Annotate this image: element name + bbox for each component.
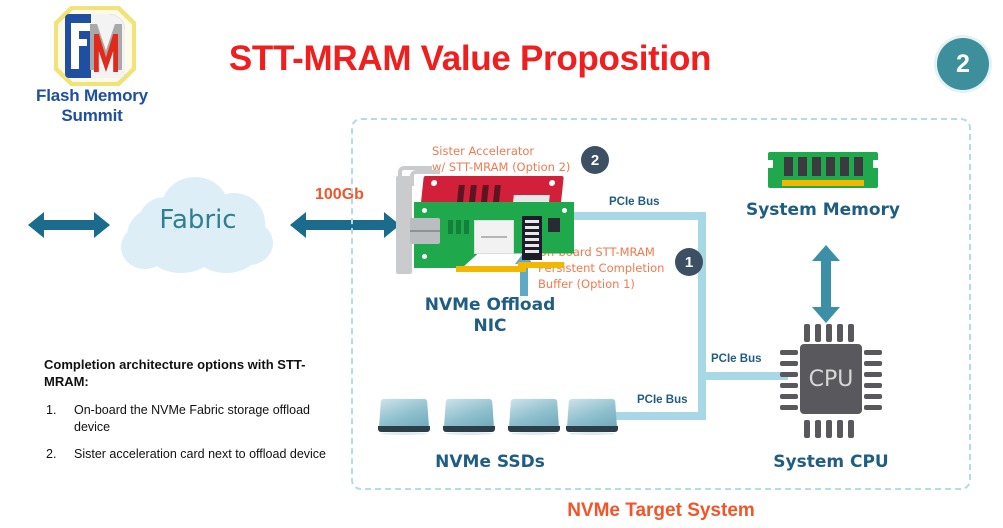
page-number-badge: 2 [937, 38, 989, 90]
logo-tile [65, 14, 125, 78]
logo-f-bar-mid [71, 39, 87, 46]
memory-dimm-icon [768, 148, 878, 190]
bus-label-top: PCIe Bus [609, 196, 660, 208]
fabric-label: Fabric [117, 205, 279, 235]
logo-f-bar-top [71, 23, 93, 31]
cpu-die-label: CPU [800, 344, 862, 414]
slide-canvas: Flash Memory Summit STT-MRAM Value Propo… [0, 0, 1003, 528]
ssd-drive-icon [508, 398, 560, 440]
list-item-number: 2. [46, 446, 56, 463]
nvme-ssds-label: NVMe SSDs [395, 452, 585, 472]
option-2-badge: 2 [581, 146, 609, 174]
cpu-chip-icon: CPU [778, 322, 884, 440]
page-title: STT-MRAM Value Proposition [200, 40, 740, 79]
list-item: 2. Sister acceleration card next to offl… [44, 446, 344, 463]
list-item-text: Sister acceleration card next to offload… [74, 447, 326, 461]
list-item: 1. On-board the NVMe Fabric storage offl… [44, 402, 344, 436]
bus-label-cpu: PCIe Bus [711, 353, 762, 365]
nvme-target-system-caption: NVMe Target System [351, 500, 971, 522]
fms-logo-mark [54, 6, 136, 86]
ssd-drive-icon [443, 398, 495, 440]
system-memory-label: System Memory [733, 200, 913, 220]
stt-mram-module [522, 216, 542, 260]
bus-label-ssd: PCIe Bus [637, 394, 688, 406]
ssd-drive-icon [378, 398, 430, 440]
options-block: Completion architecture options with STT… [44, 356, 344, 473]
nic-controller-chip [474, 220, 514, 254]
bus-segment-cpu [698, 372, 788, 380]
nic-label-line2: NIC [473, 316, 506, 336]
nic-label-line1: NVMe Offload [425, 295, 556, 315]
options-list: 1. On-board the NVMe Fabric storage offl… [44, 402, 344, 462]
double-arrow-icon-left [28, 212, 110, 238]
nic-label: NVMe Offload NIC [400, 295, 580, 338]
logo-wordmark: Flash Memory Summit [6, 86, 178, 126]
list-item-text: On-board the NVMe Fabric storage offload… [74, 403, 310, 434]
bus-segment-top [572, 212, 706, 220]
ssd-drive-icon [566, 398, 618, 440]
list-item-number: 1. [46, 402, 56, 419]
system-cpu-label: System CPU [746, 452, 916, 472]
bus-segment-trunk [698, 212, 706, 420]
sfp-cage [410, 218, 440, 244]
flash-memory-summit-logo: Flash Memory Summit [6, 4, 178, 112]
nic-card-icon [396, 166, 580, 282]
options-heading: Completion architecture options with STT… [44, 356, 344, 390]
option-1-badge: 1 [675, 248, 703, 276]
memory-cpu-double-arrow-icon [812, 245, 840, 323]
